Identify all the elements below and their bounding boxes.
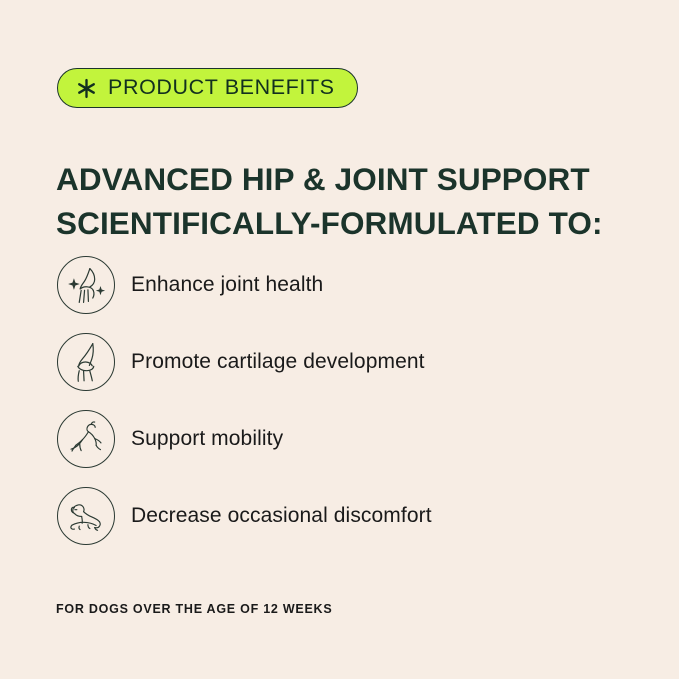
product-benefits-badge: PRODUCT BENEFITS bbox=[57, 68, 358, 108]
knee-joint-icon bbox=[57, 333, 115, 391]
heading-line-1: ADVANCED HIP & JOINT SUPPORT bbox=[56, 157, 636, 201]
list-item: Enhance joint health bbox=[57, 256, 627, 314]
age-requirement-note: FOR DOGS OVER THE AGE OF 12 WEEKS bbox=[56, 602, 332, 616]
page-title: ADVANCED HIP & JOINT SUPPORT SCIENTIFICA… bbox=[56, 157, 636, 245]
benefit-label: Enhance joint health bbox=[131, 272, 323, 297]
list-item: Decrease occasional discomfort bbox=[57, 487, 627, 545]
resting-dog-icon bbox=[57, 487, 115, 545]
badge-label: PRODUCT BENEFITS bbox=[108, 77, 335, 99]
benefit-label: Decrease occasional discomfort bbox=[131, 503, 432, 528]
benefit-label: Support mobility bbox=[131, 426, 283, 451]
joint-sparkle-icon bbox=[57, 256, 115, 314]
running-dog-icon bbox=[57, 410, 115, 468]
heading-line-2: SCIENTIFICALLY-FORMULATED TO: bbox=[56, 201, 636, 245]
benefit-label: Promote cartilage development bbox=[131, 349, 425, 374]
list-item: Support mobility bbox=[57, 410, 627, 468]
asterisk-icon bbox=[76, 78, 97, 99]
list-item: Promote cartilage development bbox=[57, 333, 627, 391]
product-benefits-card: PRODUCT BENEFITS ADVANCED HIP & JOINT SU… bbox=[0, 0, 679, 679]
benefits-list: Enhance joint health Promote cartilage d… bbox=[57, 256, 627, 564]
